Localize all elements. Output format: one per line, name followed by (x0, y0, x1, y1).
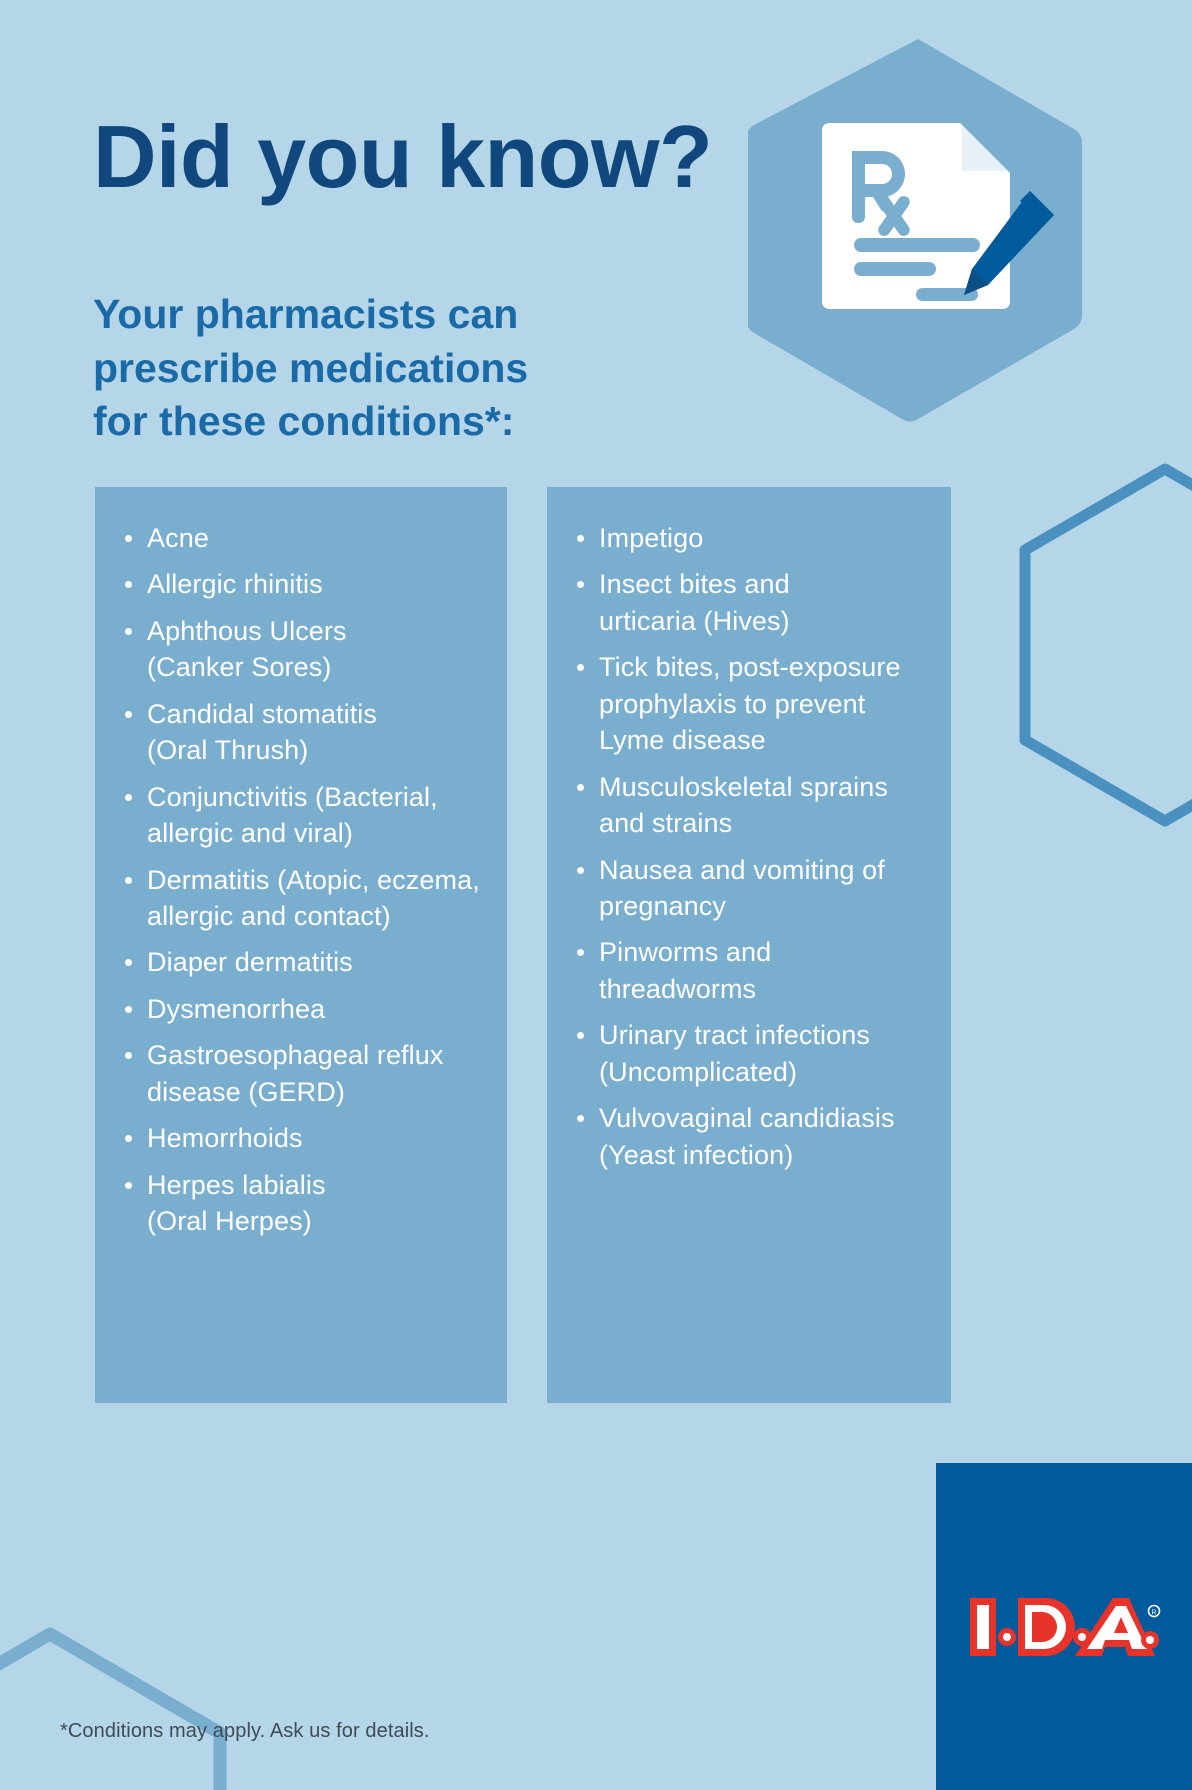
ida-logo: R (936, 1463, 1192, 1790)
condition-label: Impetigo (599, 523, 703, 553)
conditions-card-left: AcneAllergic rhinitisAphthous Ulcers(Can… (95, 487, 507, 1403)
condition-label: Insect bites and (599, 569, 790, 599)
condition-list-item: Aphthous Ulcers(Canker Sores) (121, 613, 489, 686)
condition-label: Gastroesophageal reflux (147, 1040, 443, 1070)
condition-label: Allergic rhinitis (147, 569, 323, 599)
condition-list-item: Candidal stomatitis(Oral Thrush) (121, 696, 489, 769)
condition-list-item: Insect bites andurticaria (Hives) (573, 566, 933, 639)
condition-list-item: Vulvovaginal candidiasis(Yeast infection… (573, 1100, 933, 1173)
condition-list-item: Hemorrhoids (121, 1120, 489, 1156)
hexagon-outline-icon (0, 1618, 250, 1790)
condition-label: Nausea and vomiting of (599, 855, 885, 885)
condition-label-continuation: (Uncomplicated) (599, 1054, 933, 1090)
condition-label: Hemorrhoids (147, 1123, 303, 1153)
conditions-list-left: AcneAllergic rhinitisAphthous Ulcers(Can… (95, 487, 507, 1239)
condition-label: Vulvovaginal candidiasis (599, 1103, 895, 1133)
pencil-icon (964, 191, 1054, 295)
condition-label: Candidal stomatitis (147, 699, 377, 729)
condition-label-continuation: allergic and viral) (147, 815, 489, 851)
condition-list-item: Musculoskeletal sprainsand strains (573, 769, 933, 842)
condition-label-continuation: allergic and contact) (147, 898, 489, 934)
rx-document (822, 123, 1010, 309)
condition-list-item: Acne (121, 520, 489, 556)
condition-list-item: Diaper dermatitis (121, 944, 489, 980)
condition-list-item: Dysmenorrhea (121, 991, 489, 1027)
condition-label-continuation: (Yeast infection) (599, 1137, 933, 1173)
page-title: Did you know? (93, 113, 712, 201)
footnote-text: *Conditions may apply. Ask us for detail… (60, 1720, 430, 1743)
conditions-list-right: ImpetigoInsect bites andurticaria (Hives… (547, 487, 951, 1173)
condition-label: Tick bites, post-exposure (599, 652, 901, 682)
condition-label-continuation: prophylaxis to prevent (599, 686, 933, 722)
subtitle-line-2: prescribe medications (93, 342, 528, 396)
condition-list-item: Allergic rhinitis (121, 566, 489, 602)
condition-label: Urinary tract infections (599, 1020, 870, 1050)
condition-label: Dysmenorrhea (147, 994, 325, 1024)
condition-label-continuation: (Canker Sores) (147, 649, 489, 685)
page-subtitle: Your pharmacists can prescribe medicatio… (93, 288, 528, 449)
condition-label: Musculoskeletal sprains (599, 772, 888, 802)
condition-list-item: Herpes labialis(Oral Herpes) (121, 1167, 489, 1240)
condition-list-item: Nausea and vomiting ofpregnancy (573, 852, 933, 925)
condition-list-item: Dermatitis (Atopic, eczema,allergic and … (121, 862, 489, 935)
condition-label: Aphthous Ulcers (147, 616, 347, 646)
condition-label-continuation: Lyme disease (599, 722, 933, 758)
condition-label-continuation: (Oral Thrush) (147, 732, 489, 768)
subtitle-line-1: Your pharmacists can (93, 288, 528, 342)
condition-list-item: Tick bites, post-exposureprophylaxis to … (573, 649, 933, 758)
condition-list-item: Gastroesophageal refluxdisease (GERD) (121, 1037, 489, 1110)
condition-label: Acne (147, 523, 209, 553)
condition-label: Conjunctivitis (Bacterial, (147, 782, 438, 812)
condition-label-continuation: and strains (599, 805, 933, 841)
hexagon-outline-icon (1000, 455, 1192, 835)
ida-logo-mark: R (966, 1590, 1162, 1664)
condition-list-item: Pinworms andthreadworms (573, 934, 933, 1007)
condition-label: Herpes labialis (147, 1170, 326, 1200)
condition-label: Pinworms and (599, 937, 771, 967)
condition-label: Dermatitis (Atopic, eczema, (147, 865, 480, 895)
svg-text:R: R (1151, 1609, 1156, 1616)
condition-list-item: Conjunctivitis (Bacterial,allergic and v… (121, 779, 489, 852)
condition-list-item: Impetigo (573, 520, 933, 556)
condition-label-continuation: pregnancy (599, 888, 933, 924)
condition-label-continuation: disease (GERD) (147, 1074, 489, 1110)
condition-label-continuation: urticaria (Hives) (599, 603, 933, 639)
rx-symbol-icon (852, 151, 912, 238)
prescription-document-icon (748, 33, 1088, 425)
condition-label: Diaper dermatitis (147, 947, 353, 977)
condition-label-continuation: threadworms (599, 971, 933, 1007)
conditions-card-right: ImpetigoInsect bites andurticaria (Hives… (547, 487, 951, 1403)
condition-list-item: Urinary tract infections(Uncomplicated) (573, 1017, 933, 1090)
condition-label-continuation: (Oral Herpes) (147, 1203, 489, 1239)
subtitle-line-3: for these conditions*: (93, 395, 528, 449)
poster-canvas: Did you know? Your pharmacists can presc… (0, 0, 1192, 1790)
